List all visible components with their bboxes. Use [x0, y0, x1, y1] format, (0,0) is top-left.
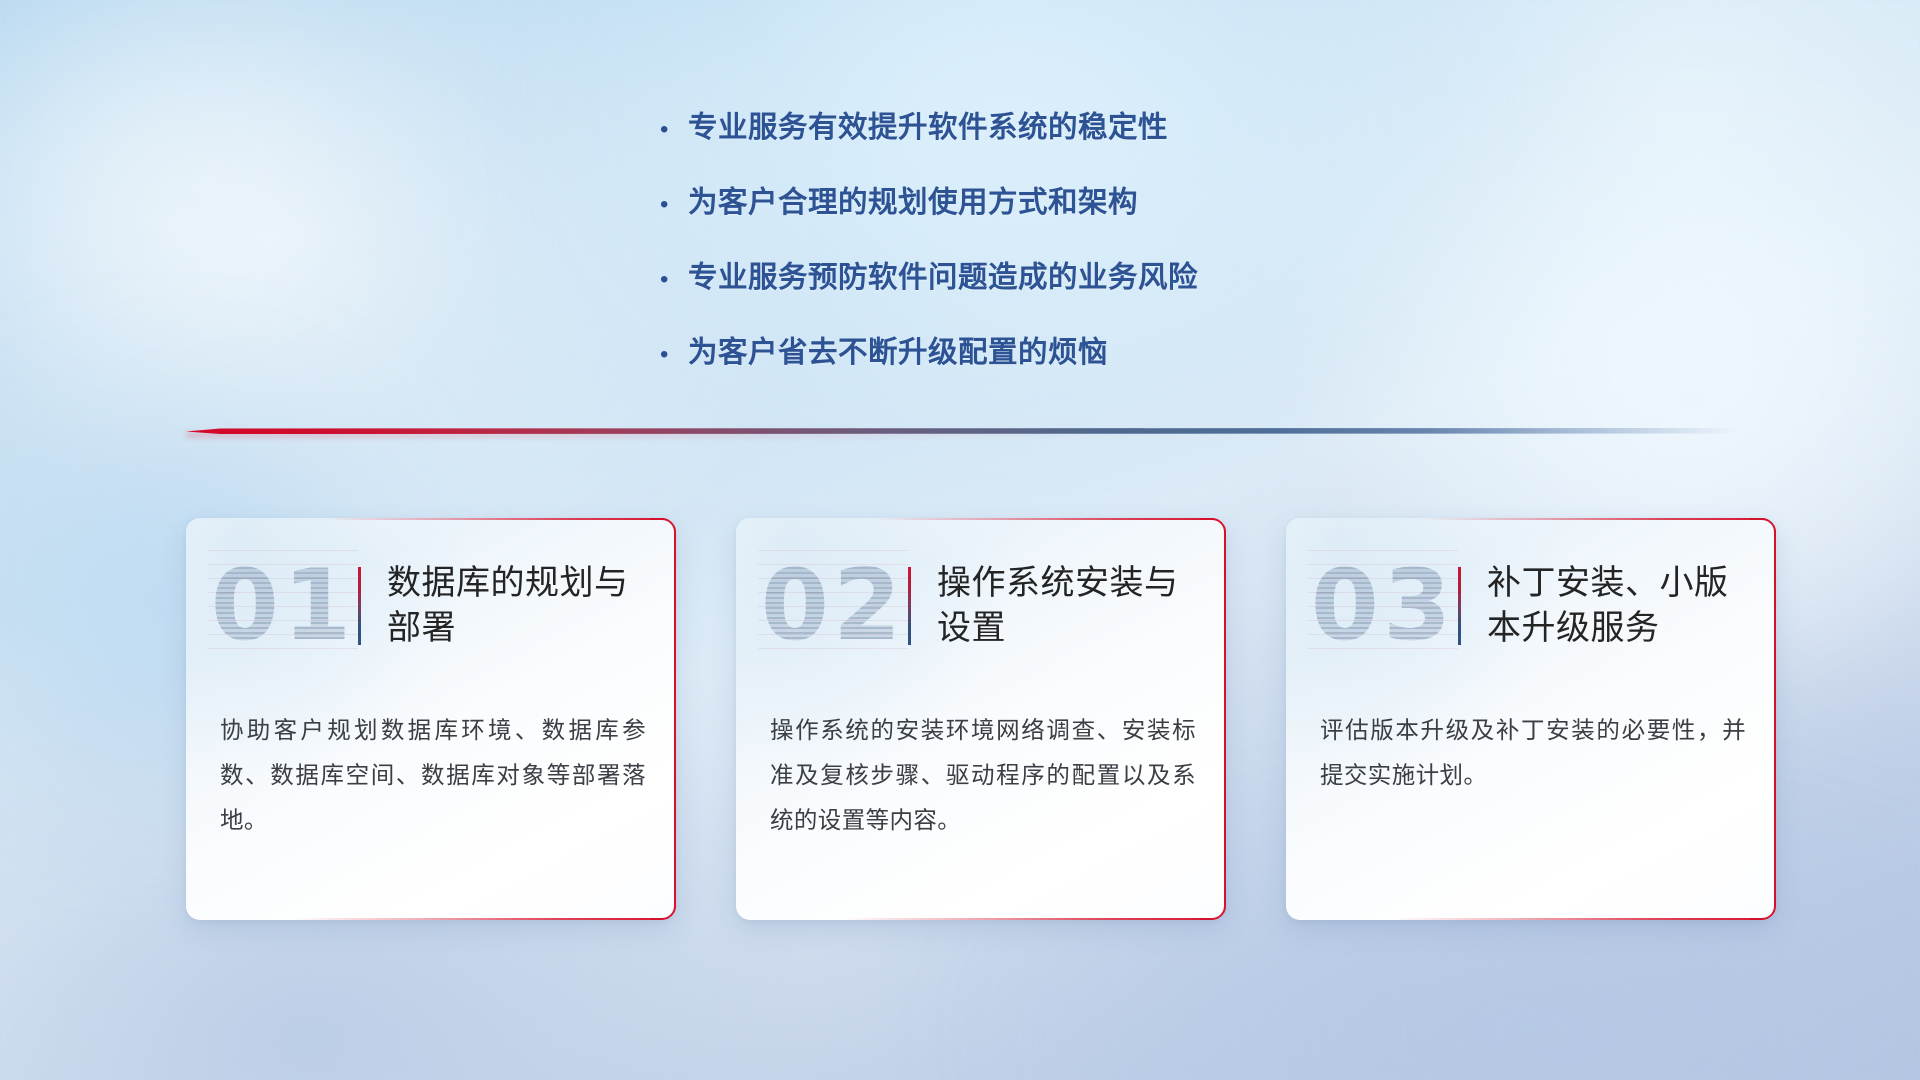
card-title: 补丁安装、小版本升级服务	[1487, 561, 1776, 651]
card-accent-top	[873, 518, 1226, 520]
card-index-number-label: 01	[211, 557, 355, 655]
card-index-number-label: 03	[1311, 557, 1455, 655]
card-accent-corner-top-right	[1200, 518, 1226, 544]
card-accent-bottom	[1394, 918, 1776, 920]
bullet-dot-icon: •	[660, 118, 688, 142]
card-accent-corner-bottom-right	[1200, 894, 1226, 920]
card-accent-top	[323, 518, 676, 520]
card-description: 评估版本升级及补丁安装的必要性，并提交实施计划。	[1320, 708, 1746, 798]
service-card[interactable]: 03 补丁安装、小版本升级服务 评估版本升级及补丁安装的必要性，并提交实施计划。	[1286, 518, 1776, 920]
card-index-number: 03	[1308, 550, 1458, 662]
bullet-item: • 专业服务预防软件问题造成的业务风险	[660, 254, 1420, 296]
bullet-item-label: 为客户合理的规划使用方式和架构	[688, 179, 1138, 221]
bullet-dot-icon: •	[660, 343, 688, 367]
divider-stroke	[186, 428, 1736, 434]
bullet-item: • 专业服务有效提升软件系统的稳定性	[660, 104, 1420, 146]
card-title-separator	[1458, 567, 1461, 645]
card-index-number: 01	[208, 550, 358, 662]
background-light-streak-a	[0, 0, 500, 460]
card-accent-corner-top-right	[650, 518, 676, 544]
card-header: 02 操作系统安装与设置	[736, 544, 1226, 668]
bullet-dot-icon: •	[660, 193, 688, 217]
card-title: 操作系统安装与设置	[937, 561, 1226, 651]
card-accent-top	[1423, 518, 1776, 520]
bullet-item: • 为客户合理的规划使用方式和架构	[660, 179, 1420, 221]
card-title: 数据库的规划与部署	[387, 561, 676, 651]
bullet-dot-icon: •	[660, 268, 688, 292]
card-accent-corner-bottom-right	[650, 894, 676, 920]
service-card[interactable]: 02 操作系统安装与设置 操作系统的安装环境网络调查、安装标准及复核步骤、驱动程…	[736, 518, 1226, 920]
bullet-item-label: 为客户省去不断升级配置的烦恼	[688, 329, 1108, 371]
bullet-item-label: 专业服务有效提升软件系统的稳定性	[688, 104, 1168, 146]
service-card[interactable]: 01 数据库的规划与部署 协助客户规划数据库环境、数据库参数、数据库空间、数据库…	[186, 518, 676, 920]
service-card-group: 01 数据库的规划与部署 协助客户规划数据库环境、数据库参数、数据库空间、数据库…	[0, 518, 1920, 938]
card-title-separator	[908, 567, 911, 645]
card-index-number-label: 02	[761, 557, 905, 655]
card-accent-bottom	[844, 918, 1226, 920]
benefits-bullet-list: • 专业服务有效提升软件系统的稳定性 • 为客户合理的规划使用方式和架构 • 专…	[660, 104, 1420, 404]
bullet-item-label: 专业服务预防软件问题造成的业务风险	[688, 254, 1198, 296]
card-header: 01 数据库的规划与部署	[186, 544, 676, 668]
card-description: 协助客户规划数据库环境、数据库参数、数据库空间、数据库对象等部署落地。	[220, 708, 646, 843]
card-index-number: 02	[758, 550, 908, 662]
bullet-item: • 为客户省去不断升级配置的烦恼	[660, 329, 1420, 371]
card-accent-corner-top-right	[1750, 518, 1776, 544]
card-description: 操作系统的安装环境网络调查、安装标准及复核步骤、驱动程序的配置以及系统的设置等内…	[770, 708, 1196, 843]
card-title-separator	[358, 567, 361, 645]
card-header: 03 补丁安装、小版本升级服务	[1286, 544, 1776, 668]
gradient-divider-line	[186, 424, 1736, 438]
card-accent-corner-bottom-right	[1750, 894, 1776, 920]
card-accent-bottom	[294, 918, 676, 920]
